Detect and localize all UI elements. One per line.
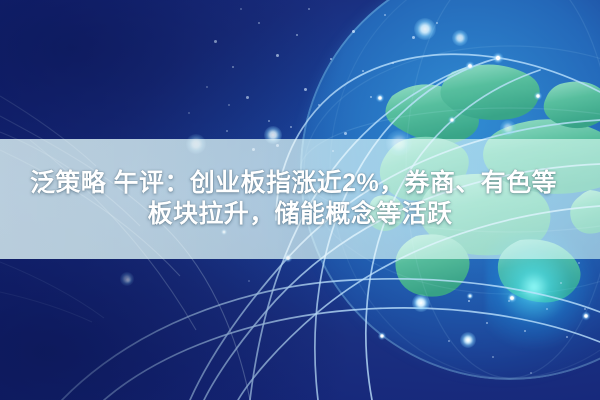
headline-line-1: 泛策略 午评：创业板指涨近2%，券商、有色等 [30, 171, 557, 196]
banner-image: 泛策略 午评：创业板指涨近2%，券商、有色等 板块拉升，储能概念等活跃 [0, 0, 600, 400]
page-title: 泛策略 午评：创业板指涨近2%，券商、有色等 板块拉升，储能概念等活跃 [0, 139, 600, 259]
headline-line-2: 板块拉升，储能概念等活跃 [148, 202, 453, 227]
